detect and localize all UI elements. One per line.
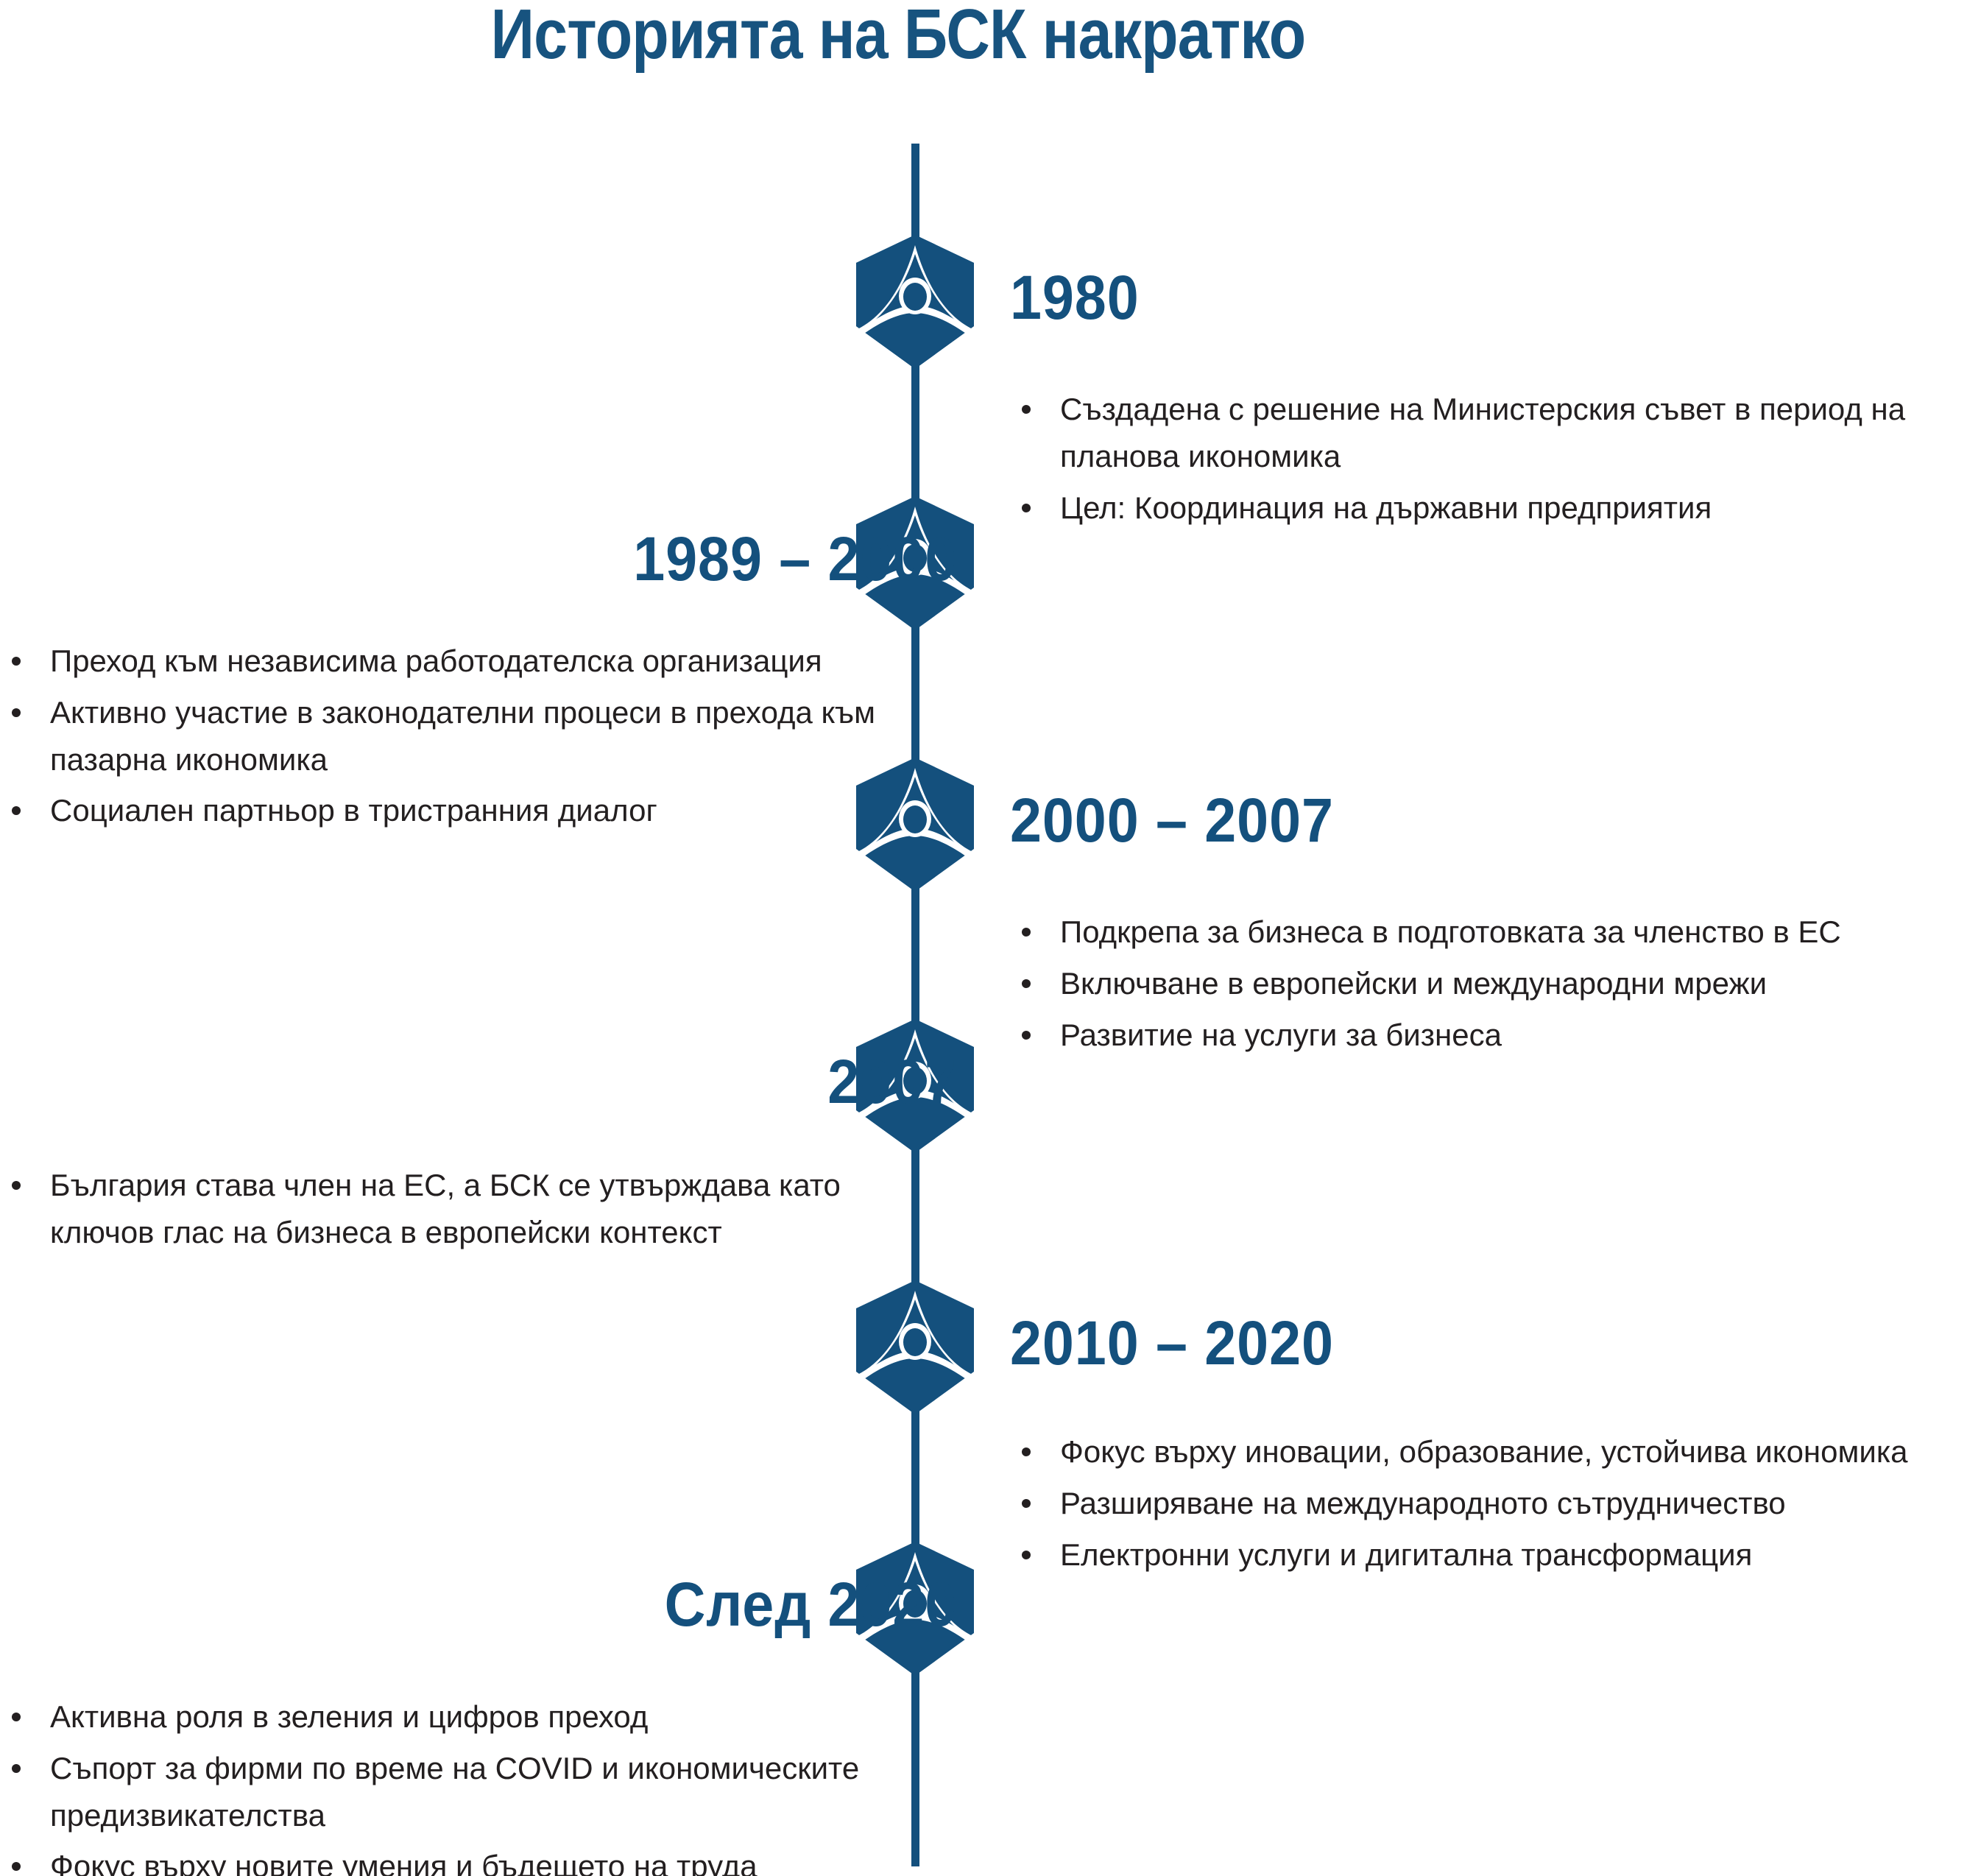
timeline-year-5: 2010 – 2020 — [1010, 1312, 1334, 1374]
list-item: Социален партньор в тристранния диалог — [0, 787, 905, 834]
list-item: Съпорт за фирми по време на COVID и икон… — [0, 1745, 905, 1839]
list-item: Електронни услуги и дигитална трансформа… — [1010, 1531, 1967, 1579]
bullet-text: Електронни услуги и дигитална трансформа… — [1060, 1537, 1752, 1572]
bullet-dot — [12, 1764, 21, 1773]
bullet-dot — [1022, 1551, 1031, 1559]
timeline-year-4: 2007 — [827, 1051, 957, 1112]
bullet-dot — [12, 1862, 21, 1871]
list-item: Преход към независима работодателска орг… — [0, 638, 905, 685]
bullet-text: Включване в европейски и международни мр… — [1060, 966, 1767, 1001]
bullet-text: Преход към независима работодателска орг… — [50, 643, 822, 678]
list-item: Включване в европейски и международни мр… — [1010, 960, 1967, 1007]
bullet-dot — [12, 806, 21, 815]
bullet-dot — [12, 708, 21, 717]
bullet-dot — [1022, 1447, 1031, 1456]
bullet-text: Подкрепа за бизнеса в подготовката за чл… — [1060, 914, 1841, 949]
list-item: България става член на ЕС, а БСК се утвъ… — [0, 1162, 905, 1256]
timeline-bullets-1: Създадена с решение на Министерския съве… — [1010, 386, 1967, 535]
bullet-text: Разширяване на международното сътрудниче… — [1060, 1486, 1786, 1520]
list-item: Развитие на услуги за бизнеса — [1010, 1012, 1967, 1059]
bullet-dot — [12, 657, 21, 666]
list-item: Фокус върху иновации, образование, устой… — [1010, 1428, 1967, 1475]
timeline-bullets-3: Подкрепа за бизнеса в подготовката за чл… — [1010, 909, 1967, 1062]
page-title: Историята на БСК накратко — [126, 0, 1670, 74]
bsk-hexagon-person-icon — [852, 232, 978, 372]
bullet-dot — [1022, 504, 1031, 512]
bullet-text: Съпорт за фирми по време на COVID и икон… — [50, 1751, 859, 1833]
bullet-dot — [12, 1713, 21, 1721]
list-item: Активна роля в зеления и цифров преход — [0, 1693, 905, 1741]
bullet-text: Развитие на услуги за бизнеса — [1060, 1018, 1502, 1052]
bsk-hexagon-person-icon — [852, 1277, 978, 1417]
bullet-text: Цел: Координация на държавни предприятия — [1060, 490, 1712, 525]
list-item: Подкрепа за бизнеса в подготовката за чл… — [1010, 909, 1967, 956]
bullet-dot — [1022, 1499, 1031, 1508]
list-item: Активно участие в законодателни процеси … — [0, 689, 905, 783]
timeline-year-3: 2000 – 2007 — [1010, 789, 1334, 851]
bullet-text: Създадена с решение на Министерския съве… — [1060, 392, 1905, 473]
bullet-dot — [1022, 979, 1031, 988]
timeline-year-6: След 2020 — [664, 1573, 957, 1635]
timeline-bullets-4: България става член на ЕС, а БСК се утвъ… — [0, 1162, 905, 1260]
list-item: Цел: Координация на държавни предприятия — [1010, 484, 1967, 532]
list-item: Фокус върху новите умения и бъдещето на … — [0, 1843, 905, 1876]
timeline-bullets-6: Активна роля в зеления и цифров преход С… — [0, 1693, 905, 1876]
bullet-text: Активно участие в законодателни процеси … — [50, 695, 875, 777]
timeline-infographic: Историята на БСК накратко 1980 Създадена… — [0, 0, 1967, 1876]
timeline-node-3 — [852, 755, 978, 895]
bullet-dot — [1022, 405, 1031, 414]
timeline-node-5 — [852, 1277, 978, 1417]
timeline-year-2: 1989 – 2000 — [633, 528, 957, 590]
bullet-text: България става член на ЕС, а БСК се утвъ… — [50, 1168, 841, 1249]
bsk-hexagon-person-icon — [852, 755, 978, 895]
bullet-text: Социален партньор в тристранния диалог — [50, 793, 657, 828]
bullet-text: Активна роля в зеления и цифров преход — [50, 1699, 648, 1734]
timeline-node-1 — [852, 232, 978, 372]
bullet-dot — [1022, 928, 1031, 937]
bullet-dot — [12, 1181, 21, 1190]
timeline-bullets-5: Фокус върху иновации, образование, устой… — [1010, 1428, 1967, 1582]
bullet-text: Фокус върху новите умения и бъдещето на … — [50, 1849, 758, 1876]
list-item: Разширяване на международното сътрудниче… — [1010, 1480, 1967, 1527]
bullet-dot — [1022, 1031, 1031, 1040]
bullet-text: Фокус върху иновации, образование, устой… — [1060, 1434, 1907, 1469]
timeline-bullets-2: Преход към независима работодателска орг… — [0, 638, 905, 839]
list-item: Създадена с решение на Министерския съве… — [1010, 386, 1967, 480]
timeline-year-1: 1980 — [1010, 267, 1140, 328]
